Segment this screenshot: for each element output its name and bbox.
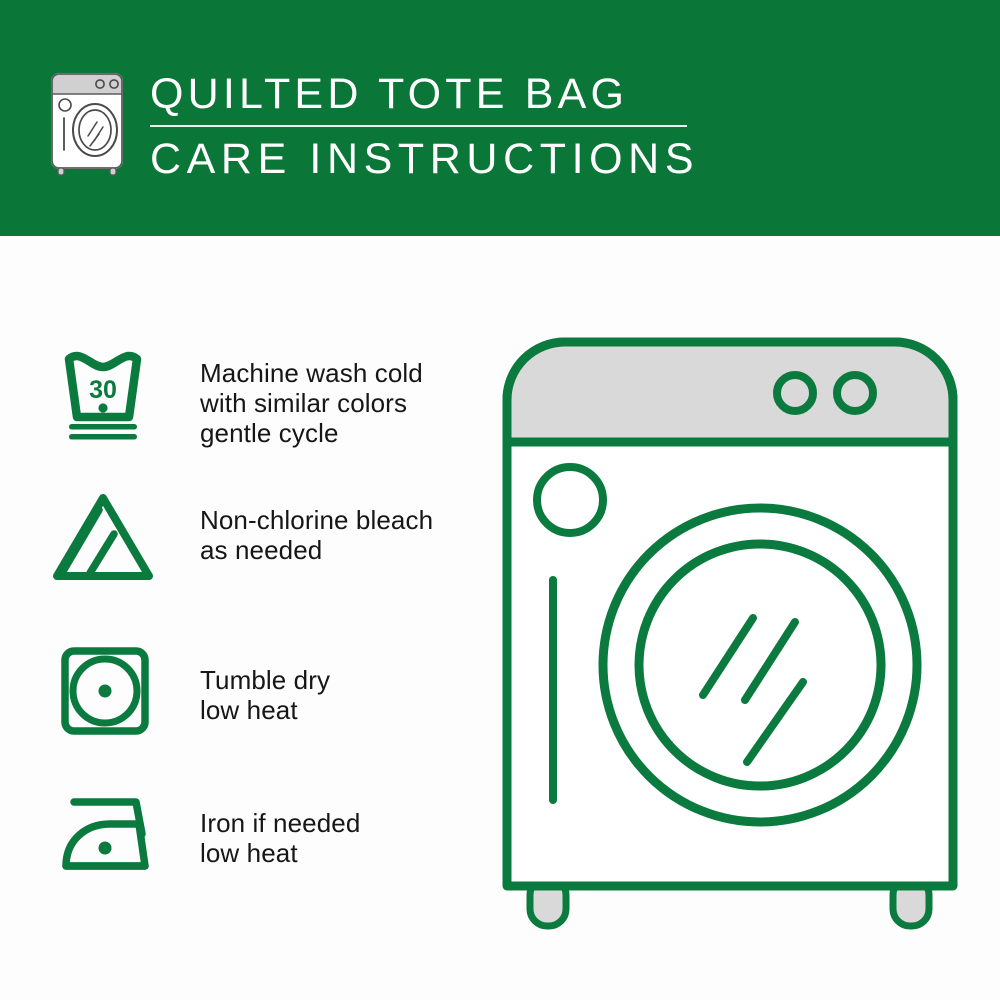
care-label-bleach: Non-chlorine bleach as needed bbox=[200, 505, 433, 565]
care-instructions-infographic: QUILTED TOTE BAG CARE INSTRUCTIONS 30 Ma… bbox=[0, 0, 1000, 1000]
washing-machine-icon bbox=[44, 68, 136, 176]
care-row-tumble-dry: Tumble dry low heat bbox=[50, 643, 330, 739]
header-content: QUILTED TOTE BAG CARE INSTRUCTIONS bbox=[44, 68, 699, 183]
title-divider bbox=[150, 125, 687, 127]
care-label-iron: Iron if needed low heat bbox=[200, 808, 360, 868]
bleach-triangle-icon bbox=[50, 488, 156, 584]
care-row-bleach: Non-chlorine bleach as needed bbox=[50, 488, 433, 584]
iron-icon bbox=[50, 788, 160, 878]
care-row-iron: Iron if needed low heat bbox=[50, 788, 360, 878]
care-symbol-iron bbox=[50, 788, 162, 878]
wash-temperature-value: 30 bbox=[89, 376, 117, 404]
wash-tub-icon: 30 bbox=[50, 345, 156, 441]
machine-control-panel bbox=[507, 342, 953, 442]
product-title: QUILTED TOTE BAG bbox=[150, 70, 699, 118]
care-label-wash: Machine wash cold with similar colors ge… bbox=[200, 358, 423, 448]
care-symbol-wash: 30 bbox=[50, 345, 162, 441]
header-band: QUILTED TOTE BAG CARE INSTRUCTIONS bbox=[0, 0, 1000, 236]
header-title-block: QUILTED TOTE BAG CARE INSTRUCTIONS bbox=[150, 68, 699, 183]
care-row-wash: 30 Machine wash cold with similar colors… bbox=[50, 345, 423, 448]
care-label-tumble-dry: Tumble dry low heat bbox=[200, 665, 330, 725]
care-symbol-tumble-dry bbox=[50, 643, 162, 739]
care-symbol-bleach bbox=[50, 488, 162, 584]
washing-machine-illustration bbox=[495, 330, 965, 930]
page-title: CARE INSTRUCTIONS bbox=[150, 135, 699, 183]
tumble-dry-icon bbox=[50, 643, 156, 739]
